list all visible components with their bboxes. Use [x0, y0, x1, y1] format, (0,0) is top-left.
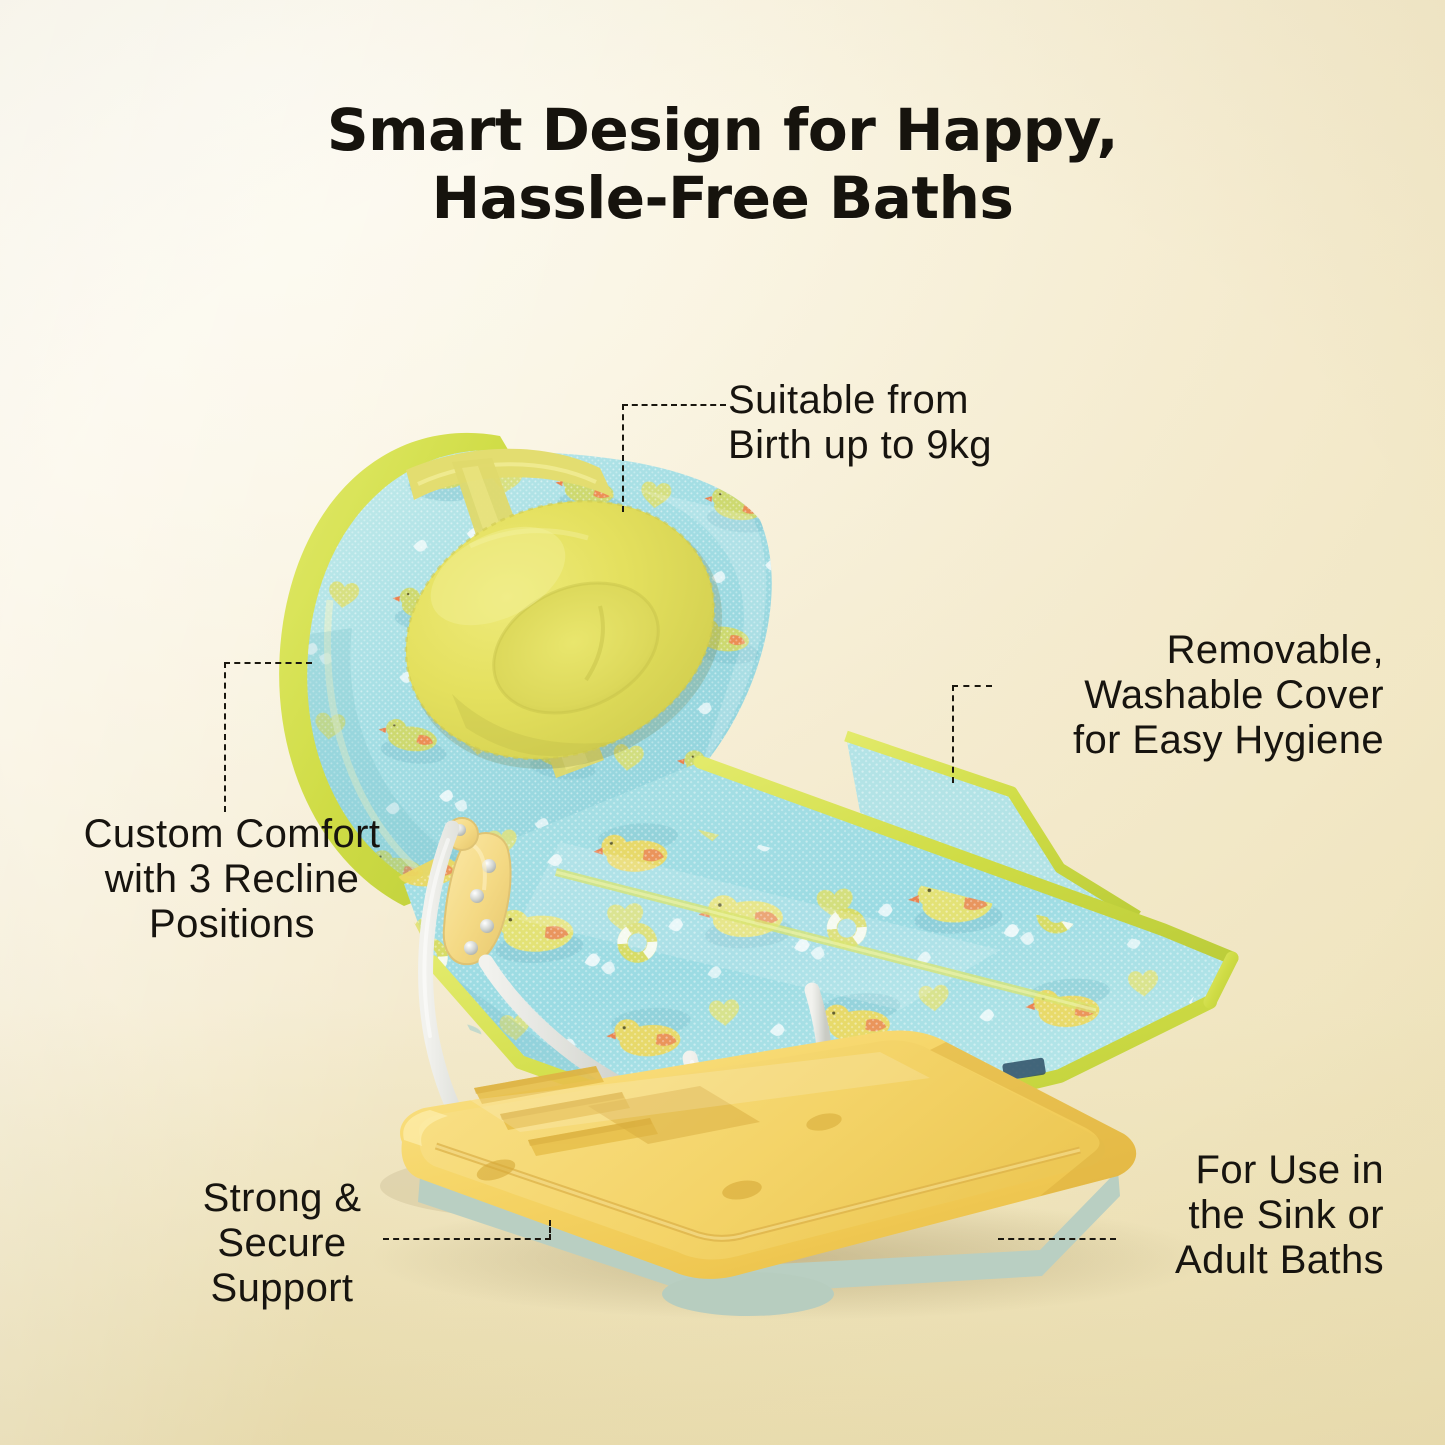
page-title: Smart Design for Happy, Hassle-Free Bath…: [0, 96, 1445, 233]
leader-line-for-use-sink-adult-baths: [998, 1238, 1120, 1242]
leader-line-suitable-from-birth: [622, 404, 732, 516]
leader-line-strong-secure-support: [383, 1220, 559, 1244]
callout-strong-secure-support: Strong & Secure Support: [176, 1176, 388, 1312]
callout-for-use-sink-adult-baths: For Use in the Sink or Adult Baths: [1116, 1148, 1384, 1284]
callout-suitable-from-birth: Suitable from Birth up to 9kg: [728, 378, 1148, 468]
callout-custom-comfort-recline: Custom Comfort with 3 Recline Positions: [36, 812, 428, 948]
leader-line-custom-comfort-recline: [224, 662, 318, 816]
callout-removable-washable-cover: Removable, Washable Cover for Easy Hygie…: [986, 628, 1384, 764]
